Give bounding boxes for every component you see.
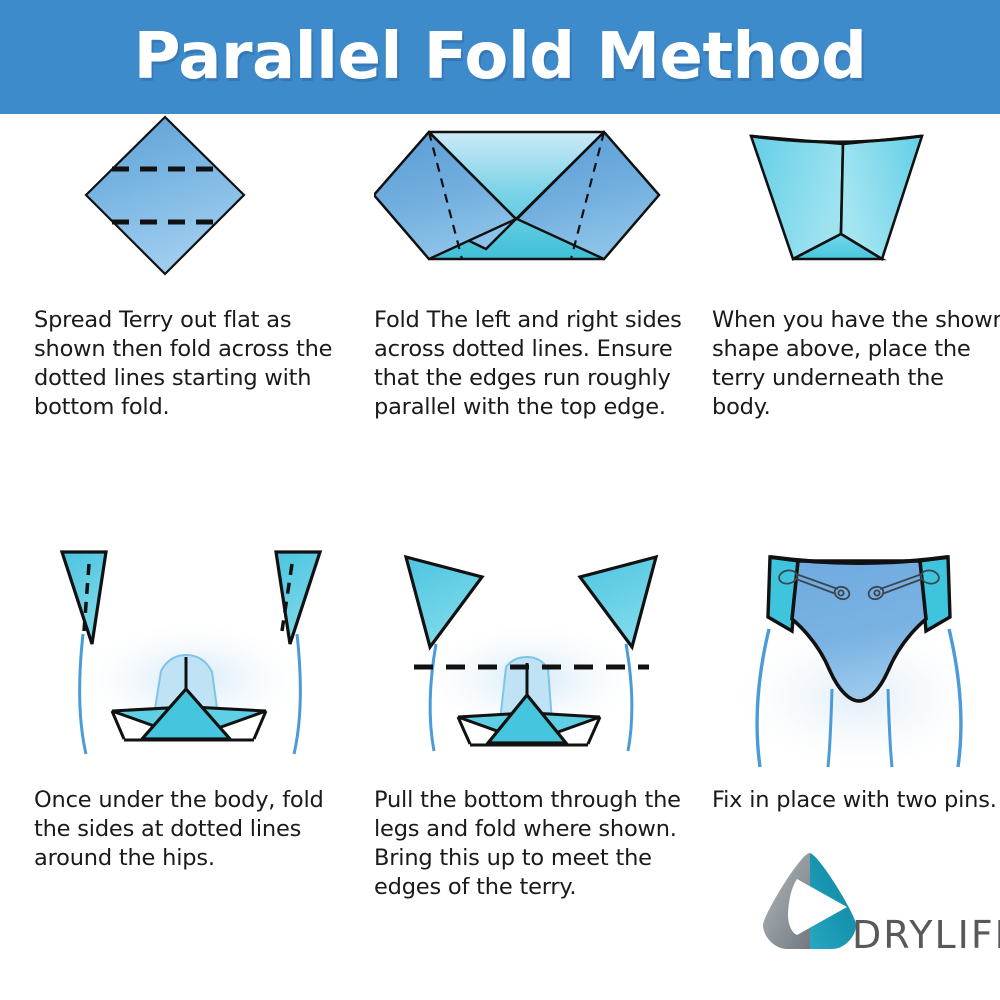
step-3-caption: When you have the shown shape above, pla… — [712, 306, 1000, 422]
step-2-caption: Fold The left and right sides across dot… — [374, 306, 689, 422]
header-banner: Parallel Fold Method — [0, 0, 1000, 114]
step-4-figure — [34, 539, 349, 774]
step-6-caption: Fix in place with two pins. — [712, 786, 1000, 815]
step-5-caption: Pull the bottom through the legs and fol… — [374, 786, 689, 902]
finished-nappy-with-pins-icon — [712, 539, 1000, 774]
trapezoid-folded-shape-icon — [712, 114, 1000, 299]
step-4-caption: Once under the body, fold the sides at d… — [34, 786, 349, 873]
step-1-figure — [34, 114, 349, 299]
step-3-figure — [712, 114, 1000, 299]
drylife-wordmark: DRYLIFE — [852, 913, 1000, 957]
step-2-figure — [374, 114, 689, 299]
step-1-caption: Spread Terry out flat as shown then fold… — [34, 306, 349, 422]
hexagon-side-folds-icon — [374, 114, 689, 299]
step-5-figure — [374, 539, 689, 774]
drylife-mark-icon — [752, 845, 867, 960]
drylife-logo: DRYLIFE — [752, 845, 1000, 970]
body-with-side-flaps-icon — [34, 539, 349, 774]
step-6-figure — [712, 539, 1000, 774]
diamond-flat-terry-icon — [34, 114, 349, 299]
body-pull-through-legs-icon — [374, 539, 689, 774]
page-title: Parallel Fold Method — [134, 20, 867, 94]
